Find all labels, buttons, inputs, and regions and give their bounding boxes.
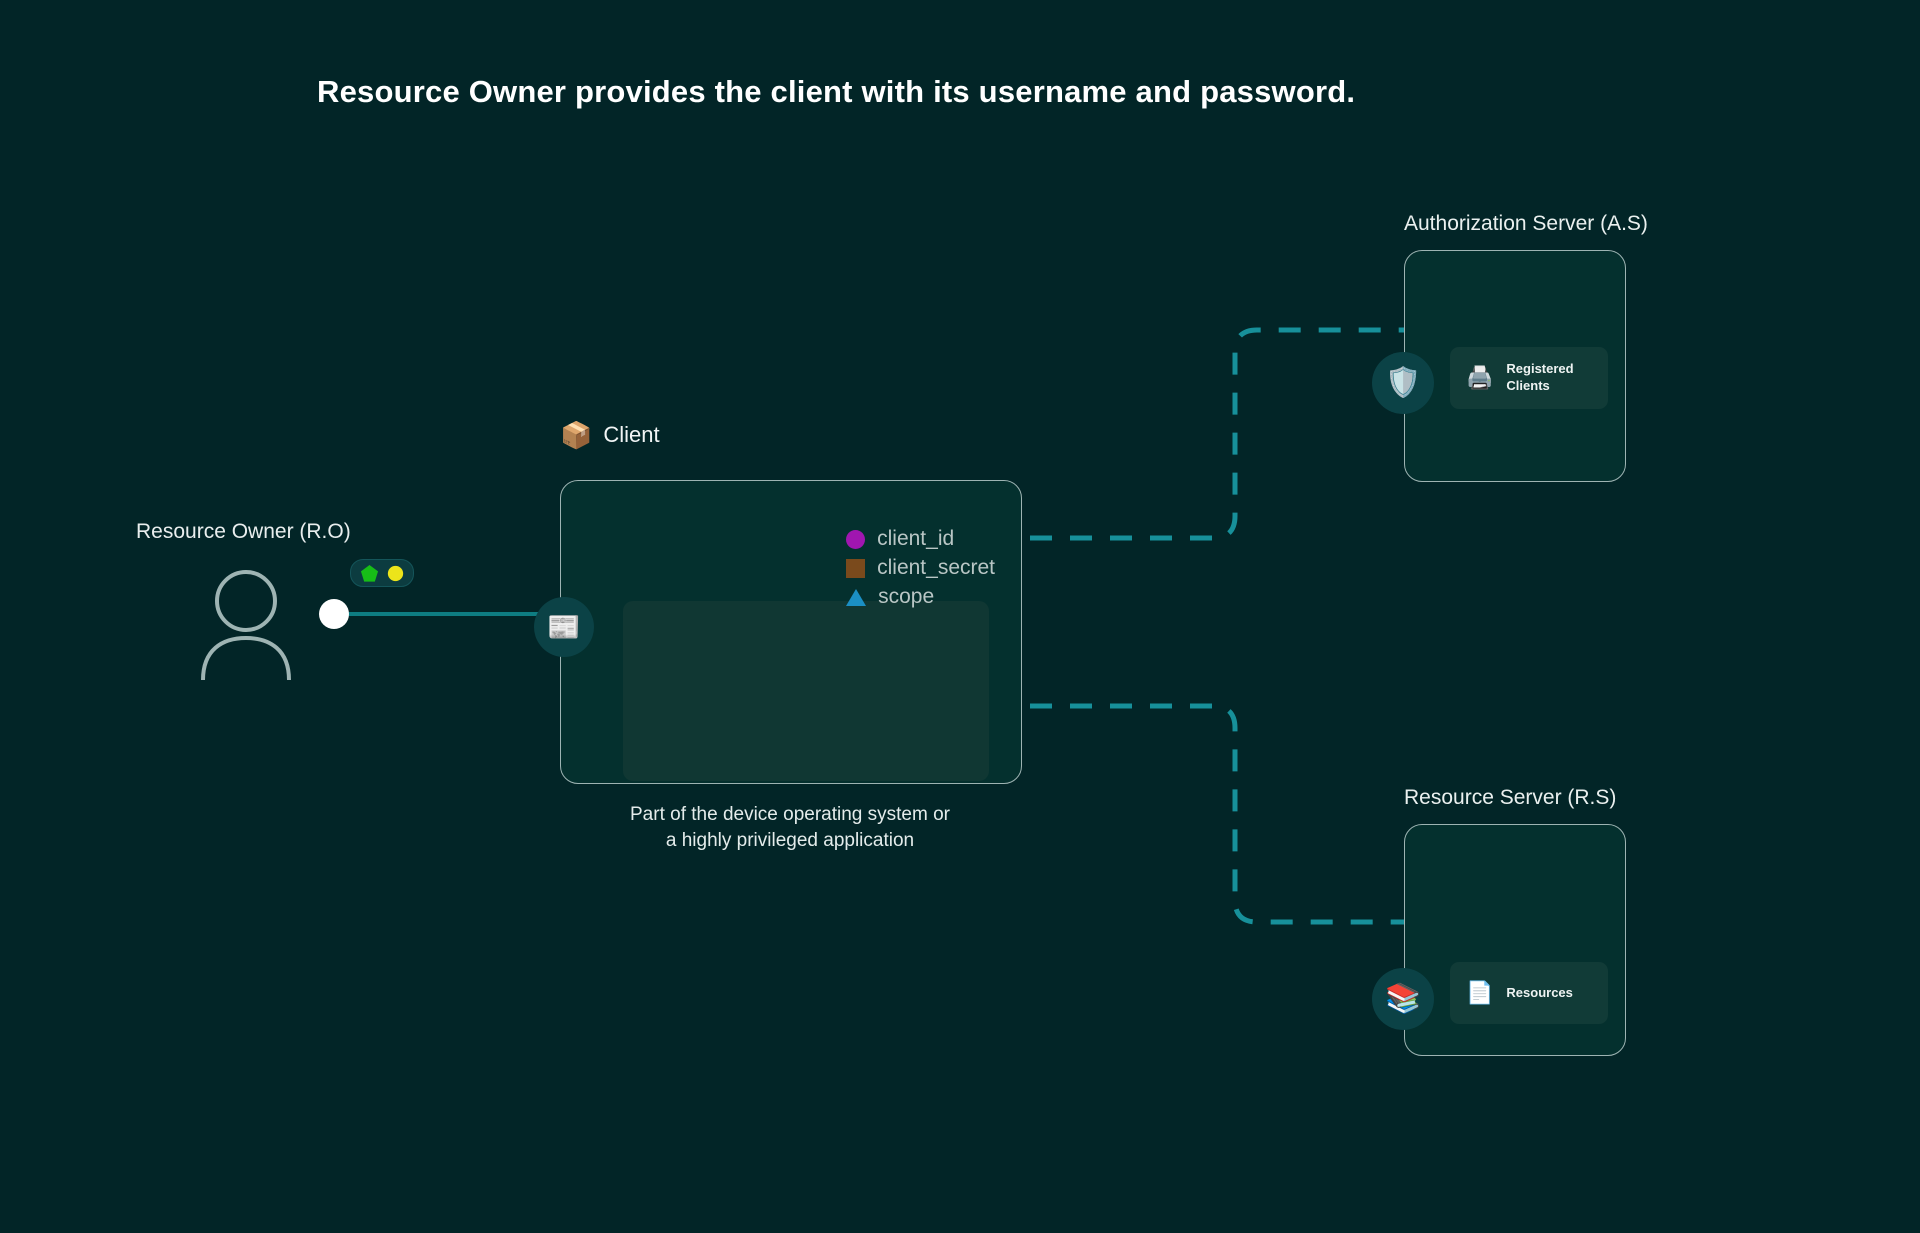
- client-id-marker: [846, 530, 865, 549]
- books-icon: 📚: [1385, 982, 1421, 1016]
- registered-clients-icon: 🖨️: [1466, 367, 1493, 389]
- link-client-to-authorization-server: [1030, 330, 1404, 538]
- client-group: 📦 Client client_id client_secret scope: [560, 422, 1030, 802]
- resource-owner-credential-badge: [350, 559, 414, 587]
- document-icon: 📄: [1466, 982, 1493, 1004]
- client-caption-line2: a highly privileged application: [540, 828, 1040, 854]
- resource-server-label: Resource Server (R.S): [1404, 786, 1616, 810]
- scope-marker: [846, 589, 866, 606]
- shield-icon: 🛡️: [1385, 366, 1421, 400]
- registered-clients-label: Registered Clients: [1506, 361, 1573, 394]
- client-title: Client: [603, 422, 659, 448]
- shield-icon-badge: 🛡️: [1372, 352, 1434, 414]
- credential-row-client-id: client_id: [846, 527, 995, 551]
- client-caption-line1: Part of the device operating system or: [540, 802, 1040, 828]
- resource-owner-group: Resource Owner (R.O): [136, 520, 466, 720]
- registered-clients-card: 🖨️ Registered Clients: [1450, 347, 1608, 409]
- client-box: client_id client_secret scope: [560, 480, 1022, 784]
- client-secret-marker: [846, 559, 865, 578]
- client-credentials-list: client_id client_secret scope: [846, 527, 995, 609]
- diagram-canvas: Resource Owner provides the client with …: [0, 0, 1920, 1233]
- authorization-server-group: Authorization Server (A.S) 🛡️ 🖨️ Registe…: [1404, 212, 1704, 502]
- pentagon-green-icon: [360, 564, 379, 583]
- card-line1: Registered: [1506, 361, 1573, 376]
- books-icon-badge: 📚: [1372, 968, 1434, 1030]
- package-icon: 📦: [560, 422, 592, 448]
- authorization-server-label: Authorization Server (A.S): [1404, 212, 1648, 236]
- card-line2: Clients: [1506, 378, 1549, 393]
- client-inner-panel: [623, 601, 989, 781]
- circle-yellow-icon: [387, 565, 404, 582]
- newspaper-icon-badge: 📰: [534, 597, 594, 657]
- credential-row-scope: scope: [846, 585, 995, 609]
- resource-owner-label: Resource Owner (R.O): [136, 520, 351, 544]
- person-icon: [198, 568, 294, 680]
- resources-label: Resources: [1506, 985, 1572, 1002]
- resources-card: 📄 Resources: [1450, 962, 1608, 1024]
- resource-server-group: Resource Server (R.S) 📚 📄 Resources: [1404, 786, 1704, 1076]
- credential-label: client_id: [877, 527, 954, 551]
- client-header: 📦 Client: [560, 422, 660, 448]
- newspaper-icon: 📰: [547, 611, 581, 643]
- credential-label: client_secret: [877, 556, 995, 580]
- credential-label: scope: [878, 585, 934, 609]
- resource-owner-connector-dot: [319, 599, 349, 629]
- client-caption: Part of the device operating system or a…: [540, 802, 1040, 854]
- link-client-to-resource-server: [1030, 706, 1404, 922]
- credential-row-client-secret: client_secret: [846, 556, 995, 580]
- card-line1: Resources: [1506, 985, 1572, 1000]
